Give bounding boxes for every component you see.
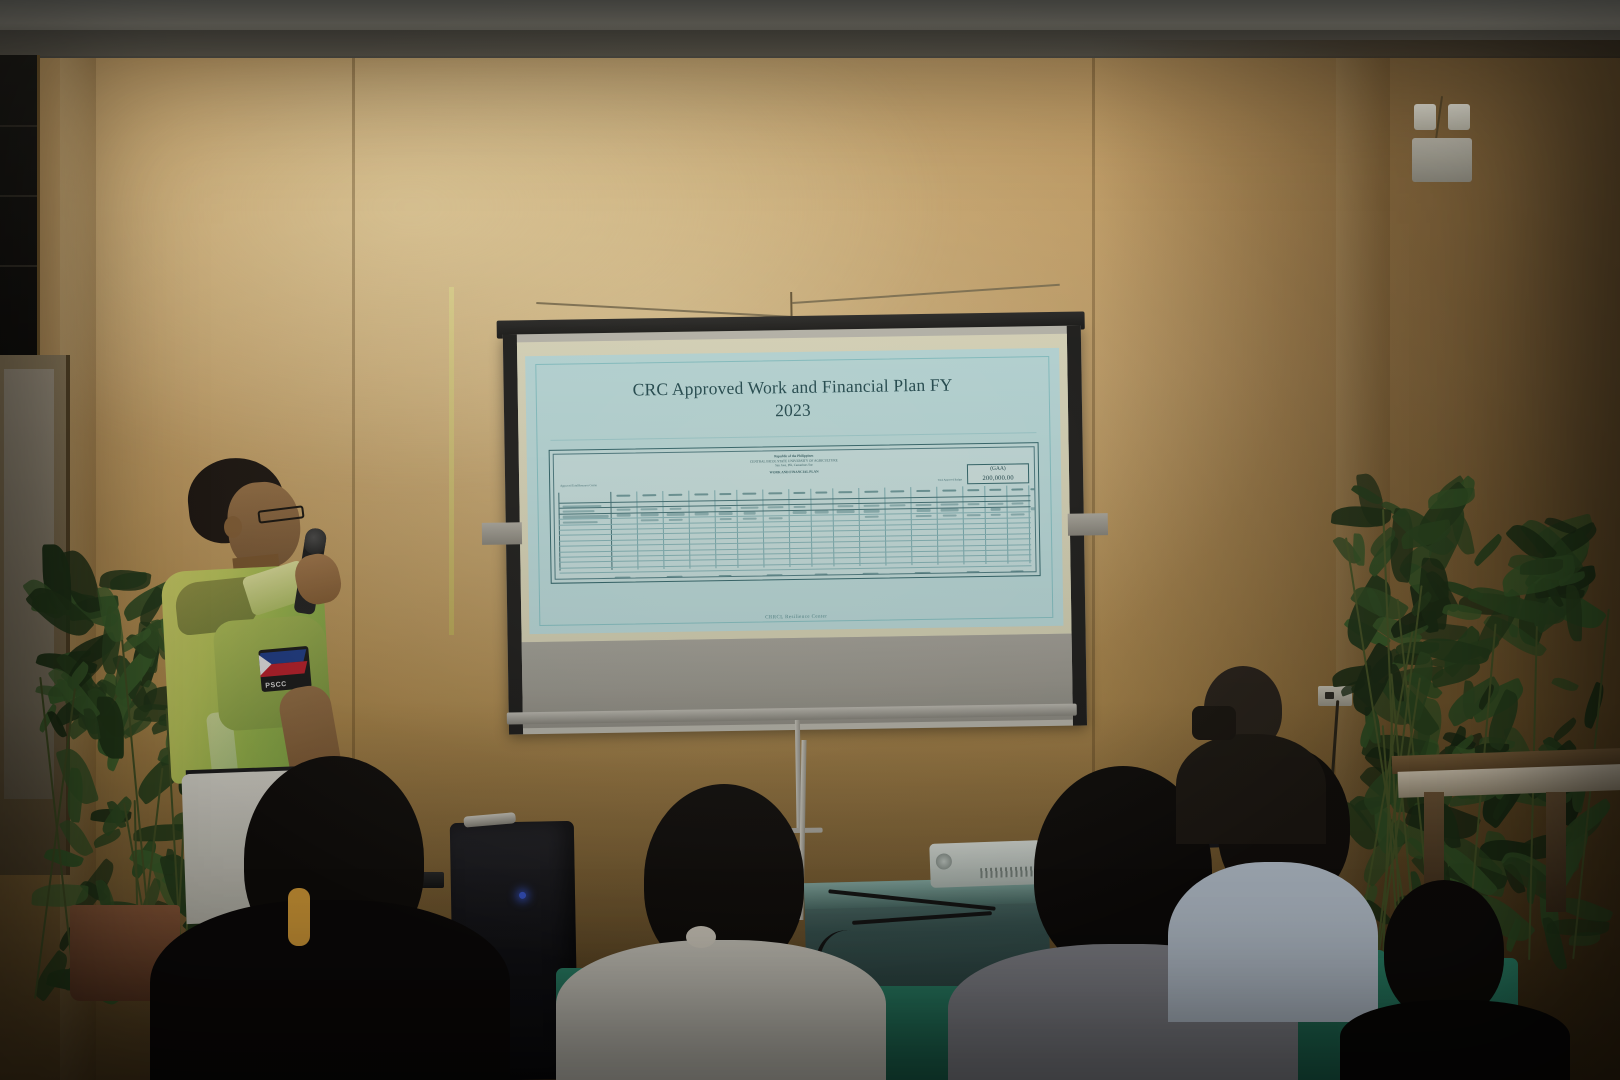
table-header-cell-text bbox=[616, 495, 630, 497]
table-cell-text bbox=[864, 510, 880, 512]
gaa-note: Total Approved Budget bbox=[938, 478, 962, 481]
left-wall-vent-window bbox=[0, 55, 40, 355]
table-cell-text bbox=[793, 511, 806, 513]
table-cell-text bbox=[694, 513, 708, 515]
table-header-cell-text bbox=[768, 492, 782, 494]
table-total-cell-text bbox=[615, 577, 631, 579]
table-cell-text bbox=[720, 518, 732, 520]
table-cell-text bbox=[640, 519, 659, 521]
table-header-cell-text bbox=[942, 489, 956, 491]
audience-facemask-5 bbox=[1192, 706, 1236, 740]
audience-shoulders-1 bbox=[150, 900, 510, 1080]
table-header-cell-text bbox=[793, 492, 805, 494]
projector[interactable] bbox=[929, 840, 1042, 888]
table-header-cell-text bbox=[989, 489, 1001, 491]
projector-vent bbox=[980, 866, 1036, 878]
table-column-line bbox=[832, 488, 834, 566]
table-cell-text bbox=[641, 508, 658, 510]
table-total-cell-text bbox=[1011, 570, 1024, 572]
table-cell-text bbox=[814, 511, 828, 513]
plant-leaf bbox=[1550, 717, 1579, 742]
table-column-line bbox=[662, 491, 664, 569]
patch-text: PSCC bbox=[265, 681, 287, 690]
audience-shoulders-6 bbox=[1340, 1000, 1570, 1080]
audience-shoulders-5 bbox=[1176, 734, 1326, 844]
table-column-line bbox=[962, 486, 964, 564]
table-cell-text bbox=[915, 504, 931, 506]
table-header-cell-text bbox=[642, 494, 656, 496]
table-cell-text bbox=[669, 508, 681, 510]
table-cell-text bbox=[641, 514, 659, 516]
electrical-box bbox=[1412, 138, 1472, 182]
table-header-cell-text bbox=[1030, 488, 1036, 490]
table-header-cell-text bbox=[815, 491, 827, 493]
microphone-head-icon bbox=[303, 527, 328, 556]
table-cell-text bbox=[669, 519, 682, 521]
table-cell-text bbox=[990, 508, 1000, 510]
projection-screen[interactable]: CRC Approved Work and Financial Plan FY … bbox=[497, 311, 1092, 760]
screen-body: CRC Approved Work and Financial Plan FY … bbox=[503, 325, 1087, 734]
table-header-cell-text bbox=[742, 493, 756, 495]
table-cell-text bbox=[741, 507, 759, 509]
gaa-amount-box: (GAA) 200,000.00 bbox=[967, 463, 1029, 484]
table-cell-text bbox=[1011, 513, 1025, 515]
table-cell-text bbox=[744, 512, 756, 514]
presentation-slide: CRC Approved Work and Financial Plan FY … bbox=[525, 348, 1063, 634]
plant-leaf bbox=[1551, 674, 1579, 695]
table-column-line bbox=[762, 489, 764, 567]
table-total-cell-text bbox=[767, 574, 783, 576]
light-switch-right-icon[interactable] bbox=[1448, 104, 1470, 130]
table-cell-text bbox=[916, 509, 931, 511]
table-column-line bbox=[936, 487, 938, 565]
bench-leg-right bbox=[1546, 792, 1566, 912]
potted-plant-right bbox=[1330, 480, 1620, 960]
table-header-cell-text bbox=[838, 491, 852, 493]
table-cell-text bbox=[616, 514, 631, 516]
table-header-cell-text bbox=[890, 490, 904, 492]
table-header-block: Republic of the Philippines CENTRAL BICO… bbox=[554, 450, 1034, 478]
yellow-pole bbox=[449, 287, 454, 635]
table-total-cell-text bbox=[719, 575, 732, 577]
audience-head-6 bbox=[1384, 880, 1504, 1020]
work-financial-plan-table: Republic of the Philippines CENTRAL BICO… bbox=[549, 442, 1041, 584]
photo-scene: CRC Approved Work and Financial Plan FY … bbox=[0, 0, 1620, 1080]
table-column-line bbox=[788, 489, 790, 567]
audience-shoulders-4 bbox=[1168, 862, 1378, 1022]
table-column-line bbox=[610, 492, 612, 570]
table-column-line bbox=[984, 486, 986, 564]
table-left-label: Approved Total Resource Center bbox=[560, 484, 597, 488]
table-header-cell-text bbox=[694, 493, 708, 495]
table-cell-text bbox=[941, 509, 959, 511]
table-total-cell-text bbox=[863, 573, 879, 575]
table-cell-text bbox=[940, 503, 959, 505]
plant-leaf bbox=[1427, 488, 1475, 510]
table-cell-text bbox=[666, 513, 685, 515]
table-header-cell-text bbox=[719, 493, 731, 495]
table-header-cell-text bbox=[864, 491, 878, 493]
audience-hair-clip-2 bbox=[686, 926, 716, 948]
table-cell-text bbox=[943, 514, 956, 516]
table-cell-text bbox=[1030, 508, 1036, 510]
table-cell-text bbox=[988, 503, 1003, 505]
table-header-cell-text bbox=[1011, 488, 1023, 490]
table-header-cell-text bbox=[668, 494, 682, 496]
table-cell-text bbox=[1011, 502, 1023, 504]
table-column-line bbox=[1006, 486, 1008, 564]
table-column-line bbox=[688, 491, 690, 569]
audience-shoulders-2 bbox=[556, 940, 886, 1080]
table-column-line bbox=[636, 491, 638, 569]
audience-hair-tie-1 bbox=[288, 888, 310, 946]
table-column-line bbox=[858, 488, 860, 566]
table-header-cell-text bbox=[916, 490, 930, 492]
screen-tab-right bbox=[1068, 513, 1108, 536]
table-cell-text bbox=[767, 506, 784, 508]
table-cell-text bbox=[916, 515, 932, 517]
table-column-line bbox=[810, 489, 812, 567]
table-cell-text bbox=[743, 517, 757, 519]
table-total-cell-text bbox=[967, 571, 980, 573]
table-cell-text bbox=[967, 503, 980, 505]
table-cell-text bbox=[966, 514, 981, 516]
speaker-power-led-icon bbox=[519, 892, 526, 899]
slide-title: CRC Approved Work and Financial Plan FY … bbox=[566, 372, 1021, 425]
table-cell-text bbox=[719, 507, 732, 509]
presenter-ear bbox=[224, 516, 242, 538]
table-total-cell-text bbox=[915, 572, 931, 574]
table-cell-text bbox=[864, 505, 880, 507]
table-column-line bbox=[558, 493, 560, 571]
table-column-line bbox=[884, 488, 886, 566]
table-cell-text bbox=[768, 517, 783, 519]
table-column-line bbox=[714, 490, 716, 568]
table-cell-text bbox=[890, 504, 906, 506]
table-cell-text bbox=[617, 509, 630, 511]
table-cell-text bbox=[719, 512, 733, 514]
table-column-line bbox=[736, 490, 738, 568]
plant-leaf bbox=[1580, 681, 1608, 729]
screen-tab-left bbox=[482, 522, 522, 545]
plant-leaf bbox=[1353, 533, 1366, 566]
table-total-cell-text bbox=[667, 576, 683, 578]
table-cell-text bbox=[794, 506, 806, 508]
table-cell-text bbox=[991, 514, 1001, 516]
table-header-cell-text bbox=[967, 489, 979, 491]
light-switch-left-icon[interactable] bbox=[1414, 104, 1436, 130]
table-cell-text bbox=[837, 510, 854, 512]
plant-leaf bbox=[1471, 533, 1506, 566]
table-cell-text bbox=[865, 515, 878, 517]
table-column-line bbox=[1028, 485, 1030, 563]
table-column-line bbox=[910, 487, 912, 565]
screen-hanger bbox=[790, 292, 792, 318]
projected-image-area: CRC Approved Work and Financial Plan FY … bbox=[517, 334, 1072, 643]
projector-lens-icon bbox=[936, 853, 953, 870]
philippine-flag-patch-icon: PSCC bbox=[258, 646, 311, 692]
table-grid bbox=[558, 485, 1031, 570]
table-frame: Republic of the Philippines CENTRAL BICO… bbox=[553, 446, 1037, 580]
table-cell-text bbox=[837, 505, 854, 507]
gaa-value: 200,000.00 bbox=[968, 473, 1028, 484]
flag-white-triangle bbox=[258, 652, 272, 677]
table-total-cell-text bbox=[815, 573, 828, 575]
